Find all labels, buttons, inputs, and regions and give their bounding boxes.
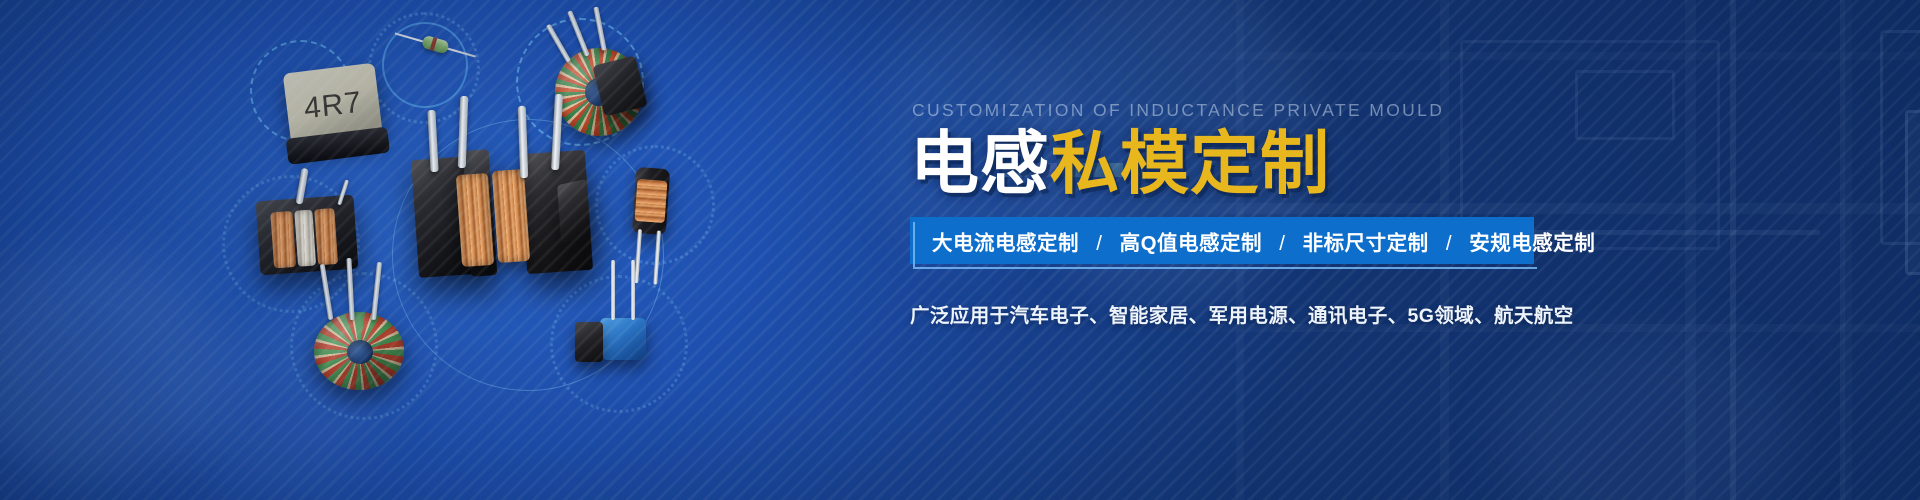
feature-separator-3: / (1446, 232, 1452, 255)
feature-item-4: 安规电感定制 (1469, 232, 1595, 255)
feature-item-3: 非标尺寸定制 (1303, 232, 1429, 255)
banner-description: 广泛应用于汽车电子、智能家居、军用电源、通讯电子、5G领域、航天航空 (910, 299, 1690, 328)
feature-bar-wrapper: 大电流电感定制 / 高Q值电感定制 / 非标尺寸定制 / 安规电感定制 (910, 217, 1534, 269)
banner-title-white-part: 电感 (910, 124, 1050, 204)
banner-title-gold-part: 私模定制 (1050, 124, 1330, 204)
banner-content: CUSTOMIZATION OF INDUCTANCE PRIVATE MOUL… (910, 100, 1690, 348)
feature-bar: 大电流电感定制 / 高Q值电感定制 / 非标尺寸定制 / 安规电感定制 (910, 217, 1534, 264)
feature-item-2: 高Q值电感定制 (1120, 232, 1262, 255)
inductance-custom-mould-banner: 4R7 (0, 0, 1920, 500)
feature-bar-line: 大电流电感定制 / 高Q值电感定制 / 非标尺寸定制 / 安规电感定制 (932, 226, 1595, 256)
feature-separator-2: / (1279, 232, 1285, 255)
banner-title: 电感私模定制 (910, 130, 1690, 199)
feature-item-1: 大电流电感定制 (932, 232, 1079, 255)
feature-separator-1: / (1096, 232, 1102, 255)
banner-eyebrow-english: CUSTOMIZATION OF INDUCTANCE PRIVATE MOUL… (912, 100, 1690, 121)
